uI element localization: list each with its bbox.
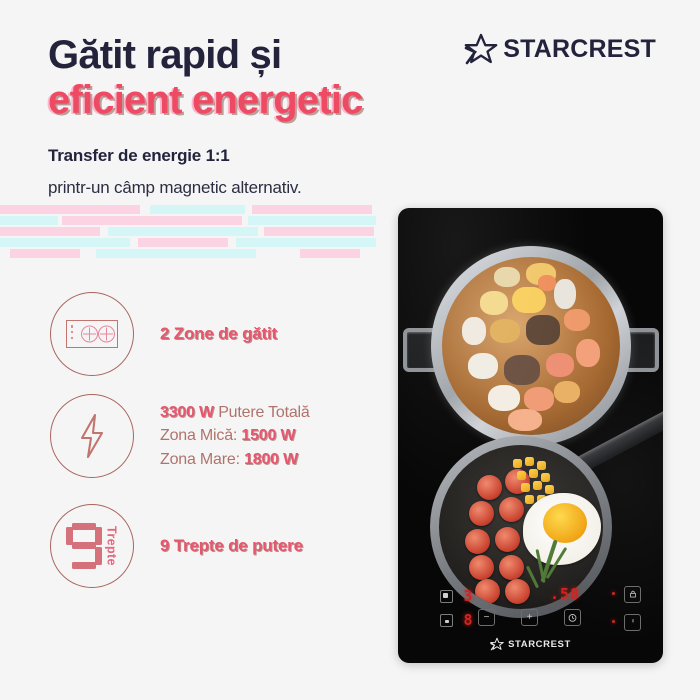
zone-small-display: 8 (463, 611, 473, 629)
cooktop-brand-logo: STARCREST (398, 637, 663, 651)
large-zone-label: Zona Mare: (160, 451, 240, 468)
power-glyph-icon (629, 618, 637, 626)
brand-name: STARCREST (503, 35, 656, 64)
zone-large-icon (440, 590, 453, 603)
cooktop-brand-name: STARCREST (508, 639, 571, 650)
zone-small-row: 8 (440, 611, 473, 630)
star-icon (490, 637, 504, 651)
zone-large-row: 3 (440, 587, 473, 606)
cooktop-two-zones-icon (66, 320, 118, 348)
glitch-artifact-band (0, 203, 382, 265)
total-power-value: 3300 W (160, 404, 214, 421)
subtitle-strong: Transfer de energie 1:1 (48, 146, 230, 166)
egg-yolk (543, 503, 587, 543)
headline: Gătit rapid și eficient energetic eficie… (48, 34, 478, 123)
icon-vertical-label: Trepte (105, 526, 119, 566)
brand-logo: STARCREST (464, 32, 656, 66)
plus-button[interactable]: + (521, 609, 538, 626)
minus-button[interactable]: − (478, 609, 495, 626)
headline-line-1: Gătit rapid și (48, 34, 478, 76)
timer-display: .58 (550, 585, 580, 603)
timer-button[interactable] (564, 609, 581, 626)
feature-small-zone-power: Zona Mică: 1500 W (160, 424, 310, 447)
indicator-dot (612, 620, 615, 623)
headline-line-2: eficient energetic eficient energetic ef… (48, 78, 478, 123)
seven-segment-nine-icon (66, 523, 102, 569)
feature-cooking-zones-label: 2 Zone de gătit (160, 324, 277, 344)
feature-icon-circle: Trepte (50, 504, 134, 588)
feature-power-levels-label: 9 Trepte de putere (160, 536, 303, 556)
function-button-2-row (612, 613, 641, 631)
total-power-label: Putere Totală (218, 404, 309, 421)
lightning-bolt-icon (75, 413, 109, 459)
pot-body (431, 246, 631, 446)
small-zone-label: Zona Mică: (160, 427, 237, 444)
timer-icon (568, 613, 577, 622)
induction-cooktop: 3 8 .58 − + (398, 208, 663, 663)
feature-large-zone-power: Zona Mare: 1800 W (160, 448, 310, 471)
infographic-page: STARCREST Gătit rapid și eficient energe… (0, 0, 700, 700)
lock-glyph-icon (629, 590, 637, 598)
function-buttons (612, 585, 641, 641)
feature-total-power: 3300 W Putere Totală (160, 401, 310, 424)
feature-power-levels: Trepte 9 Trepte de putere (50, 504, 303, 588)
lock-icon[interactable] (624, 586, 641, 603)
feature-icon-circle (50, 394, 134, 478)
feature-icon-circle (50, 292, 134, 376)
nine-power-levels-icon: Trepte (66, 523, 119, 569)
feature-cooking-zones: 2 Zone de gătit (50, 292, 277, 376)
power-icon[interactable] (624, 614, 641, 631)
indicator-dot (612, 592, 615, 595)
function-button-1-row (612, 585, 641, 603)
pot-contents (442, 257, 620, 435)
zone-large-display: 3 (463, 587, 473, 605)
control-buttons: − + (478, 609, 581, 626)
zone-small-icon (440, 614, 453, 627)
large-zone-value: 1800 W (244, 451, 298, 468)
stainless-steel-pot (431, 246, 631, 446)
headline-line-2-text: eficient energetic (48, 78, 363, 122)
subtitle-normal: printr-un câmp magnetic alternativ. (48, 178, 301, 198)
small-zone-value: 1500 W (241, 427, 295, 444)
feature-power: 3300 W Putere Totală Zona Mică: 1500 W Z… (50, 394, 310, 478)
control-panel: 3 8 .58 − + (398, 573, 663, 663)
